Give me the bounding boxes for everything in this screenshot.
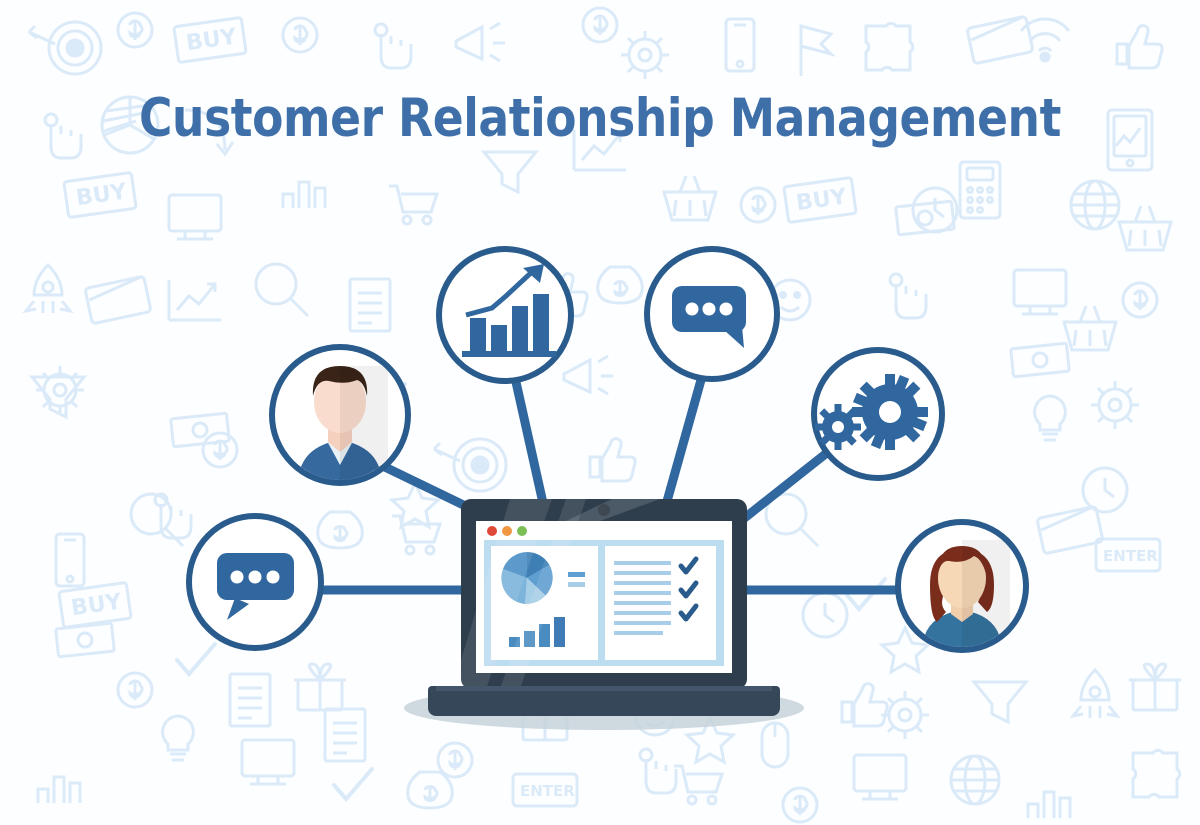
connector-to-settings [742,452,828,520]
document-checklist [605,546,716,660]
window-dot-close[interactable] [487,526,497,536]
node-chat-top[interactable] [647,249,777,379]
crm-diagram [0,0,1200,825]
connector-to-chat-top [664,380,701,512]
laptop-device [428,499,780,716]
connector-to-analytics [516,382,545,512]
node-analytics[interactable] [439,249,571,381]
illustration-canvas: BUY [0,0,1200,825]
node-customer-male[interactable] [272,347,408,486]
node-customer-female[interactable] [898,522,1026,660]
node-chat-left[interactable] [189,516,321,648]
node-settings[interactable] [814,350,942,478]
